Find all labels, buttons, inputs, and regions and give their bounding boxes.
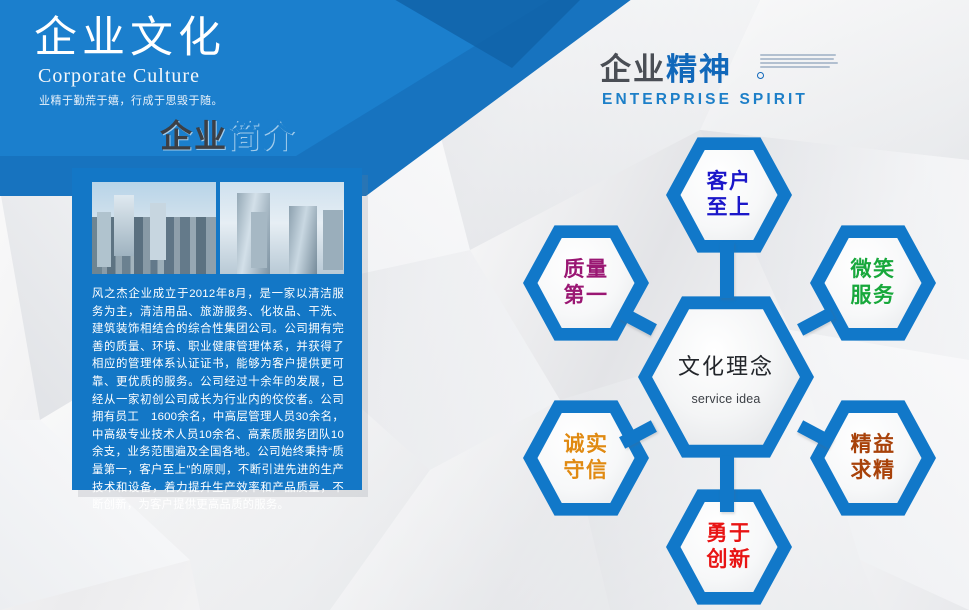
hex-node-honest-trustworthy[interactable]: 诚实 守信 <box>523 398 649 518</box>
company-intro-paragraph: 风之杰企业成立于2012年8月，是一家以清洁服务为主，清洁用品、旅游服务、化妆品… <box>92 286 344 515</box>
hex-node-smile-service[interactable]: 微笑 服务 <box>810 223 936 343</box>
page-title-part-blue: 简介 <box>228 118 296 154</box>
hex-label-line2: 第一 <box>564 283 609 309</box>
spirit-title-part-dark: 企业 <box>600 52 666 87</box>
spirit-title-en: ENTERPRISE SPIRIT <box>602 91 808 109</box>
office-towers-photo <box>220 182 344 274</box>
hex-label-line2: 创新 <box>707 547 752 573</box>
hex-node-excellence[interactable]: 精益 求精 <box>810 398 936 518</box>
hex-center-label-zh: 文化理念 <box>678 349 774 381</box>
culture-subtitle: 业精于勤荒于嬉，行成于思毁于随。 <box>39 92 364 108</box>
culture-hex-diagram: 文化理念 service idea 客户 至上 质量 第一 <box>480 110 969 610</box>
hex-label-line1: 客户 <box>707 169 752 195</box>
culture-title-zh: 企业文化 <box>34 14 364 64</box>
hex-label-line1: 精益 <box>851 432 896 458</box>
corporate-culture-header: 企业文化 Corporate Culture 业精于勤荒于嬉，行成于思毁于随。 <box>34 14 364 108</box>
photo-gallery <box>92 182 344 274</box>
city-skyline-photo <box>92 182 216 274</box>
hex-label-line1: 诚实 <box>564 432 609 458</box>
hex-label: 诚实 守信 <box>564 432 609 484</box>
company-intro-card: 风之杰企业成立于2012年8月，是一家以清洁服务为主，清洁用品、旅游服务、化妆品… <box>72 168 362 490</box>
company-intro-card-inner: 风之杰企业成立于2012年8月，是一家以清洁服务为主，清洁用品、旅游服务、化妆品… <box>72 168 362 490</box>
hex-label-line2: 服务 <box>851 283 896 309</box>
hex-label: 勇于 创新 <box>707 521 752 573</box>
hex-label-line1: 勇于 <box>707 521 752 547</box>
spirit-title-part-blue: 精神 <box>666 52 732 87</box>
hex-label-line1: 质量 <box>564 257 609 283</box>
hex-center-label-en: service idea <box>691 392 760 406</box>
hex-label: 精益 求精 <box>851 432 896 484</box>
page-title: 企业简介 <box>160 116 296 156</box>
hex-node-customer-first[interactable]: 客户 至上 <box>666 135 792 255</box>
hex-connector-bottom <box>720 456 734 512</box>
poster-canvas: 企业文化 Corporate Culture 业精于勤荒于嬉，行成于思毁于随。 … <box>0 0 969 610</box>
hex-label-line2: 至上 <box>707 195 752 221</box>
hex-connector-top <box>720 242 734 298</box>
hex-node-center[interactable]: 文化理念 service idea <box>638 293 814 461</box>
hex-label: 微笑 服务 <box>851 257 896 309</box>
culture-title-en: Corporate Culture <box>38 65 364 88</box>
hex-label: 客户 至上 <box>707 169 752 221</box>
hex-label: 质量 第一 <box>564 257 609 309</box>
hex-label-line2: 守信 <box>564 458 609 484</box>
hex-label-line2: 求精 <box>851 458 896 484</box>
page-title-part-dark: 企业 <box>160 118 228 154</box>
spirit-decorative-textlines <box>760 54 840 84</box>
hex-label-line1: 微笑 <box>851 257 896 283</box>
